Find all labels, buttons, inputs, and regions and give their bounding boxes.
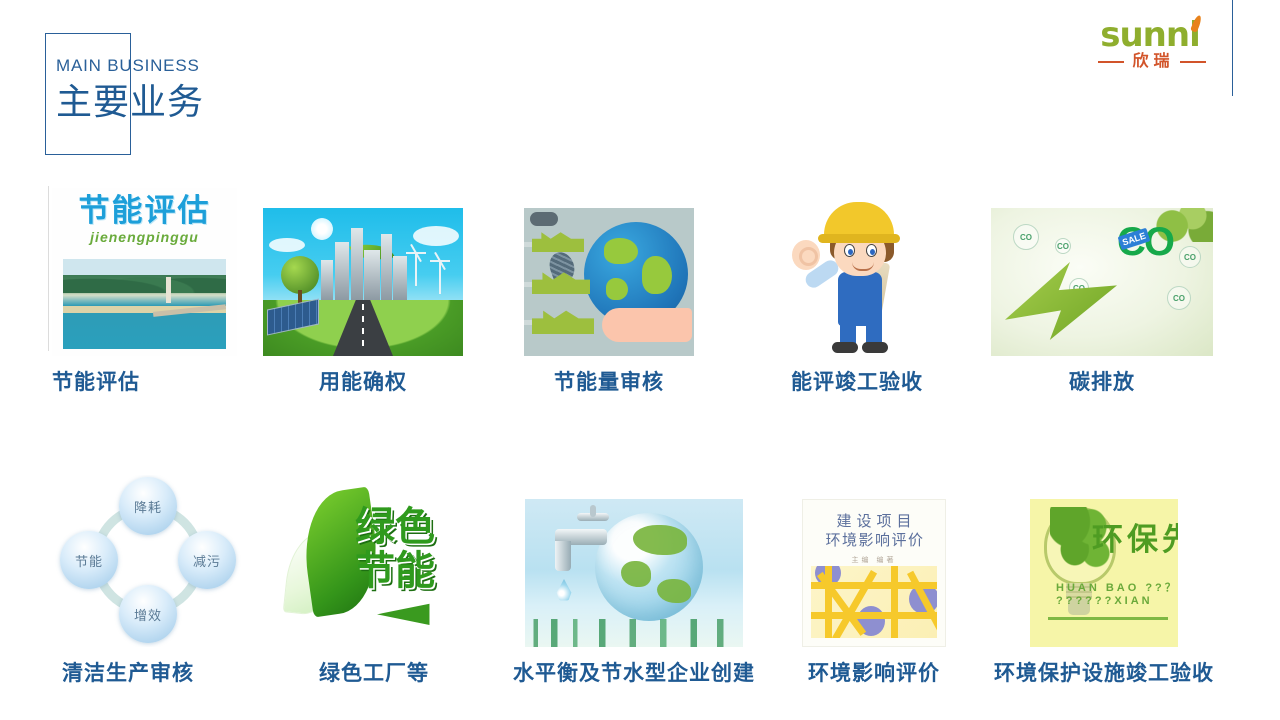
thumbnail-faucet-globe bbox=[525, 499, 743, 647]
worker-overalls bbox=[838, 272, 882, 326]
business-card-carbon-emission[interactable]: CO CO CO CO CO CO SALE 碳排放 bbox=[982, 208, 1222, 396]
slide-root: MAIN BUSINESS 主要业务 sunni 欣瑞 节能评估 jieneng… bbox=[0, 0, 1280, 720]
business-card-completion-acceptance[interactable]: 能评竣工验收 bbox=[732, 196, 982, 396]
sun-icon bbox=[311, 218, 333, 240]
card-label: 节能评估 bbox=[52, 370, 140, 396]
business-card-green-factory[interactable]: 绿色 节能 绿色工厂等 bbox=[254, 477, 494, 687]
co2-bubble-icon: CO bbox=[1055, 238, 1071, 254]
globe-landmass bbox=[621, 561, 651, 587]
thumbnail-cycle-diagram: 降耗 减污 增效 节能 bbox=[48, 475, 248, 647]
logo-wordmark: sunni bbox=[1086, 18, 1214, 52]
faucet-spout bbox=[555, 541, 571, 571]
book-author: 主编 编著 bbox=[803, 555, 945, 565]
worker-shoe bbox=[862, 342, 888, 353]
logo-text: 绿色 节能 bbox=[355, 505, 435, 593]
cycle-node-left: 节能 bbox=[60, 531, 118, 589]
logo-rule-left bbox=[1098, 61, 1124, 63]
card-label: 碳排放 bbox=[1069, 370, 1135, 396]
poster-rule bbox=[1048, 617, 1168, 620]
business-card-env-facility-acceptance[interactable]: 环保先 HUAN BAO ??？? ??????XIAN 环境保护设施竣工验收 bbox=[974, 499, 1234, 687]
poster-pinyin-line2: ??????XIAN bbox=[1056, 595, 1153, 607]
water-drop-icon bbox=[556, 579, 572, 601]
poster-pinyin-line1: HUAN BAO ??？? bbox=[1056, 579, 1178, 595]
page-title-cn: 主要业务 bbox=[56, 79, 204, 125]
card-label: 用能确权 bbox=[319, 370, 407, 396]
business-card-energy-rights[interactable]: 用能确权 bbox=[240, 208, 486, 396]
thumbnail-book-cover: 建设项目 环境影响评价 主编 编著 bbox=[802, 499, 946, 647]
green-arrow-icon bbox=[1005, 262, 1117, 340]
poster-pinyin: jienengpinggu bbox=[52, 229, 237, 245]
business-row-2: 降耗 减污 增效 节能 清洁生产审核 绿色 节能 绿色工厂等 bbox=[0, 472, 1280, 687]
poster-photo bbox=[63, 259, 226, 349]
faucet-handle bbox=[577, 513, 609, 521]
cycle-node-bottom: 增效 bbox=[119, 585, 177, 643]
card-label: 绿色工厂等 bbox=[319, 661, 429, 687]
tree-icon bbox=[281, 256, 319, 294]
poster-title-cn: 节能评估 bbox=[52, 194, 237, 228]
worker-shoe bbox=[832, 342, 858, 353]
page-title-en: MAIN BUSINESS bbox=[56, 55, 204, 77]
business-card-energy-audit[interactable]: 节能量审核 bbox=[486, 208, 732, 396]
header-divider-line bbox=[1232, 0, 1233, 96]
wind-turbine-icon bbox=[415, 252, 417, 286]
co2-bubble-icon: CO bbox=[1013, 224, 1039, 250]
logo-text-line2: 节能 bbox=[355, 549, 435, 593]
page-title-group: MAIN BUSINESS 主要业务 bbox=[56, 55, 204, 125]
company-logo: sunni 欣瑞 bbox=[1086, 18, 1218, 80]
thumbnail-green-leaf-logo: 绿色 节能 bbox=[281, 477, 467, 647]
photo-tower bbox=[166, 277, 171, 303]
co2-bubble-icon: CO bbox=[1179, 246, 1201, 268]
worker-eye bbox=[844, 244, 855, 257]
thumbnail-eco-city bbox=[263, 208, 463, 356]
globe-landmass bbox=[604, 238, 638, 264]
wind-turbine-icon bbox=[439, 260, 441, 294]
thumbnail-worker bbox=[782, 196, 932, 356]
cloud-icon bbox=[413, 226, 459, 246]
card-label: 环境影响评价 bbox=[808, 661, 940, 687]
business-card-clean-production[interactable]: 降耗 减污 增效 节能 清洁生产审核 bbox=[0, 475, 254, 687]
building bbox=[364, 250, 380, 300]
book-cover-artwork bbox=[811, 566, 937, 638]
cloud-icon bbox=[269, 238, 305, 252]
hand-icon bbox=[602, 308, 692, 342]
book-title-line2: 环境影响评价 bbox=[803, 531, 945, 551]
card-label: 节能量审核 bbox=[554, 370, 664, 396]
city-skyline bbox=[525, 619, 743, 647]
cover-bar bbox=[891, 566, 898, 638]
book-title-line1: 建设项目 bbox=[803, 512, 945, 531]
thumbnail-carbon: CO CO CO CO CO CO SALE bbox=[991, 208, 1213, 356]
building bbox=[351, 228, 363, 300]
cover-bar bbox=[811, 612, 937, 619]
globe-landmass bbox=[606, 278, 628, 300]
card-label: 能评竣工验收 bbox=[791, 370, 923, 396]
logo-text-line1: 绿色 bbox=[355, 505, 435, 549]
thumbnail-energy-assessment-poster: 节能评估 jienengpinggu bbox=[52, 188, 237, 356]
tank-icon bbox=[530, 212, 558, 226]
logo-rule-right bbox=[1180, 61, 1206, 63]
building bbox=[335, 242, 349, 300]
card-label: 清洁生产审核 bbox=[62, 661, 194, 687]
photo-hills bbox=[63, 267, 226, 293]
worker-eye bbox=[866, 244, 877, 257]
hard-hat-icon bbox=[824, 202, 894, 240]
globe-landmass bbox=[642, 256, 672, 294]
business-card-water-balance[interactable]: 水平衡及节水型企业创建 bbox=[494, 499, 774, 687]
logo-subtitle: 欣瑞 bbox=[1086, 53, 1218, 71]
recycle-arrow-icon bbox=[377, 597, 441, 625]
factory-icon bbox=[532, 308, 594, 334]
thumbnail-eco-bulb-poster: 环保先 HUAN BAO ??？? ??????XIAN bbox=[1030, 499, 1178, 647]
ok-hand-icon bbox=[792, 240, 820, 270]
building bbox=[381, 234, 392, 300]
card-label: 水平衡及节水型企业创建 bbox=[513, 661, 755, 687]
co2-bubble-icon: CO bbox=[1167, 286, 1191, 310]
thumbnail-globe-hand bbox=[524, 208, 694, 356]
building bbox=[393, 256, 407, 300]
business-card-energy-assessment[interactable]: 节能评估 jienengpinggu 节能评估 bbox=[0, 188, 240, 396]
cycle-node-top: 降耗 bbox=[119, 477, 177, 535]
card-label: 环境保护设施竣工验收 bbox=[994, 661, 1214, 687]
business-row-1: 节能评估 jienengpinggu 节能评估 bbox=[0, 186, 1280, 396]
logo-text-cn: 欣瑞 bbox=[1129, 53, 1174, 71]
poster-text: 环保先 bbox=[1092, 523, 1178, 557]
business-card-environmental-impact[interactable]: 建设项目 环境影响评价 主编 编著 环境影响评价 bbox=[774, 499, 974, 687]
factory-icon bbox=[532, 230, 584, 252]
building bbox=[321, 260, 333, 300]
globe-landmass bbox=[657, 579, 691, 603]
cycle-node-right: 减污 bbox=[178, 531, 236, 589]
